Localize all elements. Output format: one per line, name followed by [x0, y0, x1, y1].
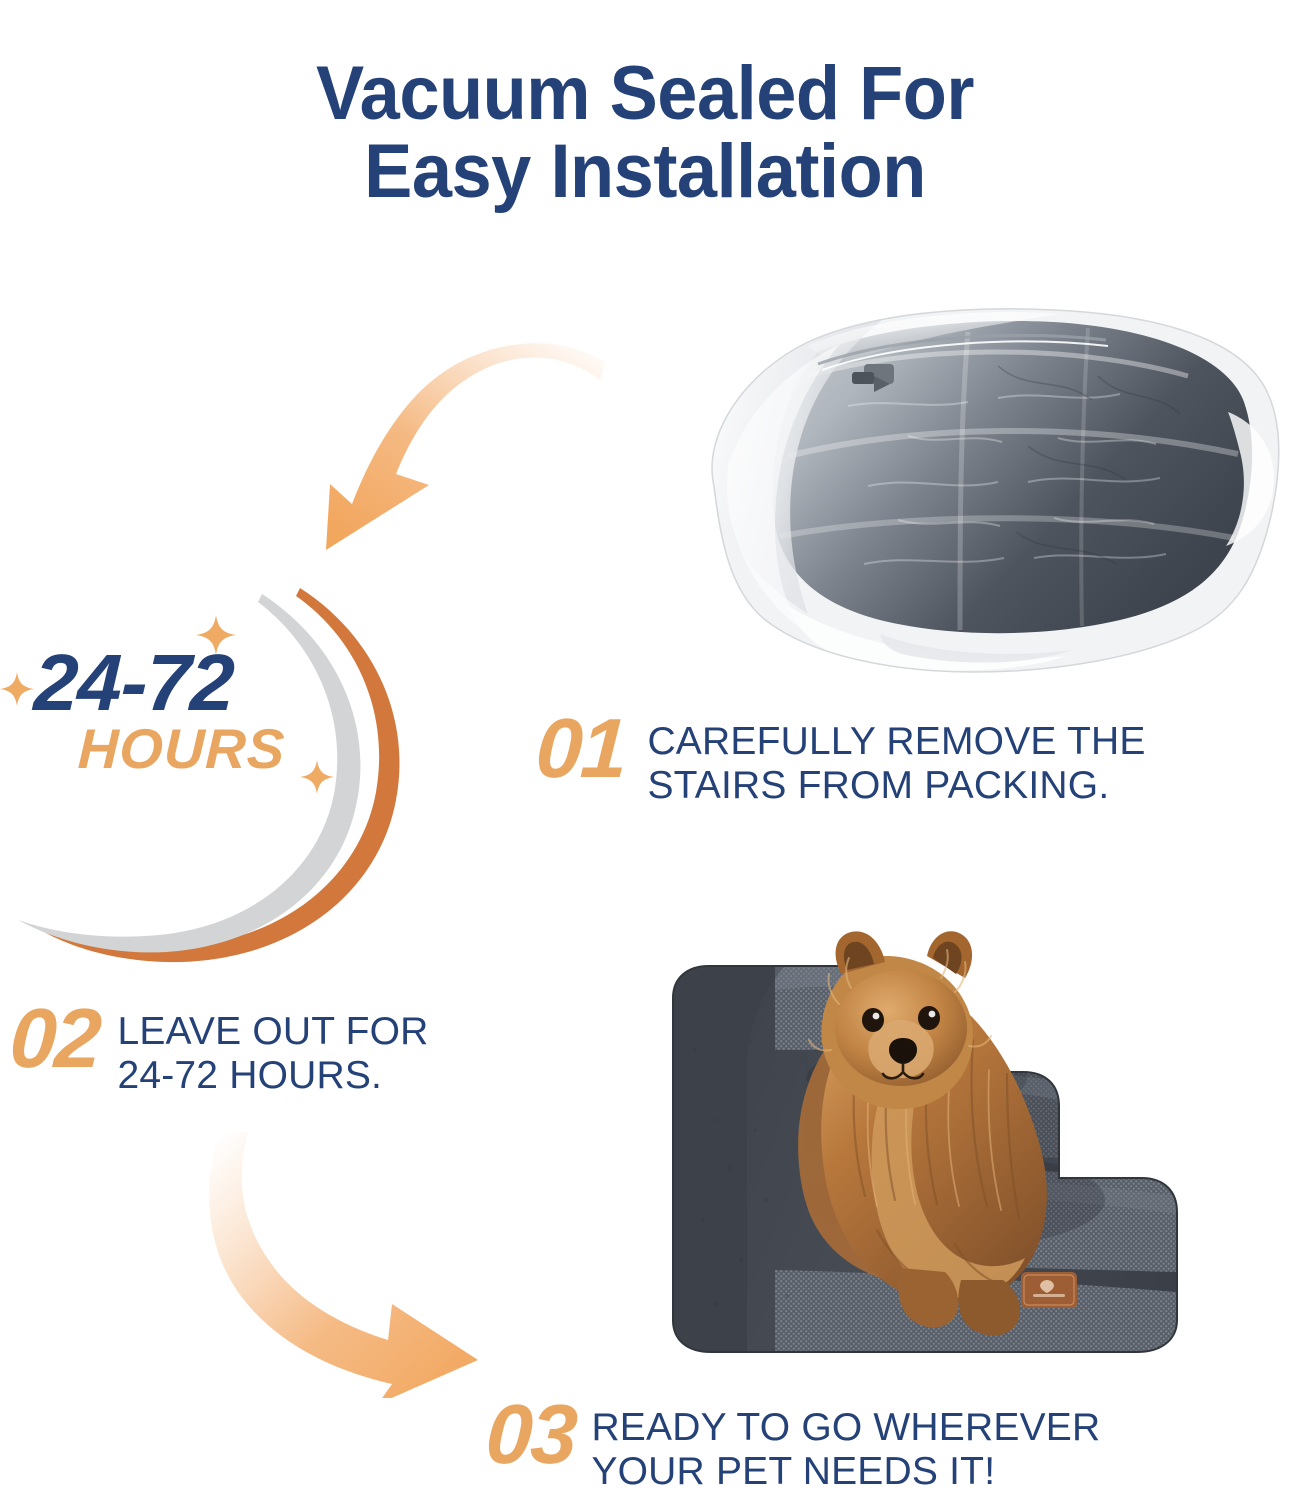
headline-line-1: Vacuum Sealed For [316, 51, 974, 136]
pet-stairs-with-dog-photo [655, 900, 1280, 1380]
page-title: Vacuum Sealed For Easy Installation [32, 55, 1258, 212]
step-line: CAREFULLY REMOVE THE [647, 720, 1145, 764]
step-number: 01 [534, 712, 627, 784]
duration-badge: 24-72 HOURS [0, 560, 440, 980]
infographic-canvas: Vacuum Sealed For Easy Installation [0, 0, 1290, 1500]
duration-value: 24-72 [33, 646, 356, 720]
step-line: READY TO GO WHEREVER [591, 1406, 1100, 1450]
four-point-star-icon [0, 672, 34, 706]
step-description: CAREFULLY REMOVE THE STAIRS FROM PACKING… [647, 712, 1145, 809]
step-description: READY TO GO WHEREVER YOUR PET NEEDS IT! [591, 1398, 1100, 1495]
step-item-02: 02 LEAVE OUT FOR 24-72 HOURS. [10, 1002, 429, 1099]
brand-label [1021, 1272, 1077, 1308]
step-line: STAIRS FROM PACKING. [647, 764, 1145, 808]
curved-arrow-icon [300, 318, 610, 573]
step-line: LEAVE OUT FOR [117, 1010, 428, 1054]
curved-arrow-icon [178, 1128, 538, 1398]
step-number: 03 [484, 1398, 577, 1470]
step-line: 24-72 HOURS. [117, 1054, 428, 1098]
duration-badge-text: 24-72 HOURS [34, 646, 354, 778]
step-item-01: 01 CAREFULLY REMOVE THE STAIRS FROM PACK… [536, 712, 1146, 809]
vacuum-sealed-package-photo [668, 306, 1282, 686]
step-number: 02 [8, 1002, 101, 1074]
step-item-03: 03 READY TO GO WHEREVER YOUR PET NEEDS I… [486, 1398, 1100, 1495]
step-line: YOUR PET NEEDS IT! [591, 1450, 1100, 1494]
step-description: LEAVE OUT FOR 24-72 HOURS. [117, 1002, 428, 1099]
duration-unit: HOURS [77, 720, 355, 778]
headline-line-2: Easy Installation [32, 133, 1258, 211]
